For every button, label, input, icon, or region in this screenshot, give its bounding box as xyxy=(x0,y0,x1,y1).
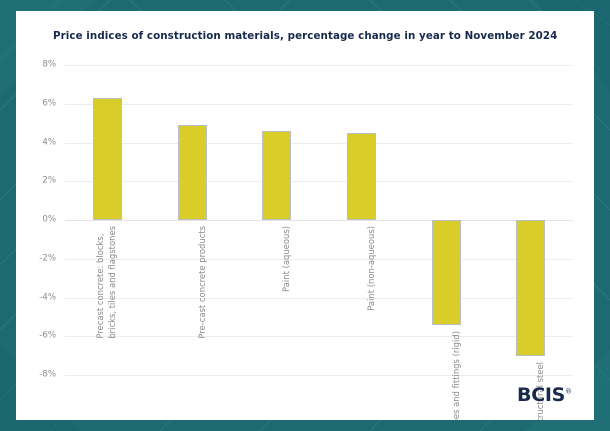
chart-title: Price indices of construction materials,… xyxy=(53,30,573,42)
y-axis-tick-label: -8% xyxy=(39,371,56,380)
bcis-logo-text: BCIS xyxy=(517,384,565,406)
gridline xyxy=(65,104,573,105)
y-axis-tick-label: -4% xyxy=(39,293,56,302)
gridline xyxy=(65,181,573,182)
y-axis-tick-label: -2% xyxy=(39,254,56,263)
bar xyxy=(347,133,376,220)
x-axis-category-label: Pipes and fittings (rigid) xyxy=(451,331,463,420)
gridline xyxy=(65,298,573,299)
y-axis-tick-label: 8% xyxy=(42,61,56,70)
x-axis-category-label: Precast concrete: blocks, bricks, tiles … xyxy=(95,226,118,339)
y-axis-tick-label: 2% xyxy=(42,177,56,186)
x-axis-category-label: Paint (aqueous) xyxy=(281,226,293,292)
bar xyxy=(93,98,122,220)
plot-area: 8%6%4%2%0%-2%-4%-6%-8%Precast concrete: … xyxy=(65,65,573,375)
gridline xyxy=(65,336,573,337)
gridline xyxy=(65,143,573,144)
gridline xyxy=(65,65,573,66)
y-axis-tick-label: 4% xyxy=(42,138,56,147)
gridline xyxy=(65,259,573,260)
x-axis-category-label: Paint (non-aqueous) xyxy=(366,226,378,311)
gridline xyxy=(65,375,573,376)
chart-card: Price indices of construction materials,… xyxy=(16,11,594,420)
y-axis-tick-label: 6% xyxy=(42,99,56,108)
bar xyxy=(432,220,461,325)
bar xyxy=(516,220,545,356)
registered-trademark-icon: ® xyxy=(565,388,572,396)
y-axis-tick-label: -6% xyxy=(39,332,56,341)
chart-frame: Price indices of construction materials,… xyxy=(0,0,610,431)
zero-axis-line xyxy=(65,220,573,221)
x-axis-category-label: Pre-cast concrete products xyxy=(197,226,209,339)
y-axis-tick-label: 0% xyxy=(42,216,56,225)
bar xyxy=(178,125,207,220)
bcis-logo: BCIS® xyxy=(517,386,572,405)
bar xyxy=(262,131,291,220)
